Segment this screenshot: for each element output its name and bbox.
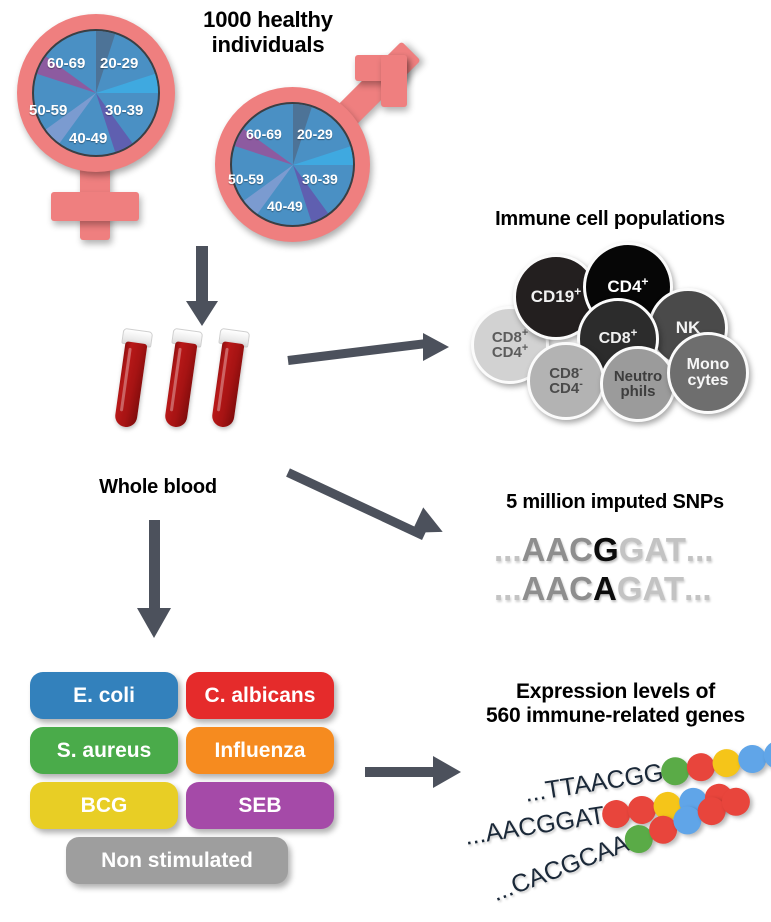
blood-tubes: [105, 330, 285, 450]
snp-sequence-row-2: ...AACAGAT...: [494, 570, 712, 608]
arrow-cohort-to-blood: [186, 246, 218, 326]
snp-ellipsis-left: ...: [494, 531, 522, 569]
whole-blood-label: Whole blood: [78, 476, 238, 498]
cohort-title-line2: individuals: [178, 33, 358, 58]
arrow-blood-to-stimuli: [136, 520, 176, 645]
stimulus-label: SEB: [238, 794, 281, 818]
snp-variant-allele: G: [593, 531, 619, 569]
tube-blood: [114, 341, 148, 428]
stimulus-seb[interactable]: SEB: [186, 782, 334, 829]
immune-cell-label: CD8+CD4+: [492, 330, 528, 361]
gene-expression-title: Expression levels of 560 immune-related …: [460, 680, 771, 727]
snp-flank-left: AAC: [522, 570, 594, 608]
female-age-label-30-39: 30-39: [105, 102, 143, 119]
male-arrow-barb-vertical: [381, 55, 407, 107]
female-age-label-40-49: 40-49: [69, 130, 107, 147]
stimulus-label: S. aureus: [57, 739, 152, 763]
stimuli-panel: E. coli C. albicans S. aureus Influenza …: [28, 672, 338, 902]
immune-cell-label: CD8-CD4-: [549, 366, 583, 397]
blood-tube-2: [163, 331, 201, 433]
arrow-blood-to-snps: [288, 460, 458, 560]
stimulus-bcg[interactable]: BCG: [30, 782, 178, 829]
stimulus-label: BCG: [81, 794, 128, 818]
immune-cell-label: Monocytes: [687, 357, 730, 390]
male-age-label-20-29: 20-29: [297, 126, 333, 142]
gene-title-line1: Expression levels of: [460, 680, 771, 704]
arrow-stimuli-to-genes: [365, 756, 465, 790]
snp-sequence-row-1: ...AACGGAT...: [494, 531, 713, 569]
snp-flank-right: GAT: [617, 570, 684, 608]
snp-title: 5 million imputed SNPs: [470, 491, 760, 513]
snp-flank-left: AAC: [522, 531, 594, 569]
female-symbol: 20-29 30-39 40-49 50-59 60-69: [8, 10, 198, 250]
snp-ellipsis-left: ...: [494, 570, 522, 608]
stimulus-label: Non stimulated: [101, 849, 253, 873]
male-age-label-50-59: 50-59: [228, 171, 264, 187]
cohort-title: 1000 healthy individuals: [178, 8, 358, 57]
snp-ellipsis-right: ...: [686, 531, 714, 569]
stimulus-influenza[interactable]: Influenza: [186, 727, 334, 774]
immune-cell-label: CD8+: [599, 331, 638, 347]
female-age-label-20-29: 20-29: [100, 55, 138, 72]
immune-cell-label: CD19+: [531, 288, 582, 305]
immune-cell-neutrophils: Neutrophils: [600, 346, 676, 422]
arrow-blood-to-immune-cells: [288, 330, 456, 380]
immune-cell-label: Neutrophils: [614, 369, 662, 400]
male-age-label-60-69: 60-69: [246, 126, 282, 142]
gene-bead: [736, 743, 768, 775]
stimulus-label: Influenza: [214, 739, 305, 763]
gene-bead: [710, 747, 742, 779]
immune-cell-cluster: CD8+CD4+ CD19+ CD4+ NK CD8+ CD8-CD4- Neu…: [455, 240, 771, 425]
snp-variant-allele: A: [593, 570, 617, 608]
stimulus-label: E. coli: [73, 684, 135, 708]
snp-ellipsis-right: ...: [684, 570, 712, 608]
tube-blood: [211, 341, 245, 428]
blood-tube-1: [113, 331, 151, 433]
female-age-label-60-69: 60-69: [47, 55, 85, 72]
stimulus-label: C. albicans: [205, 684, 316, 708]
cohort-title-line1: 1000 healthy: [178, 8, 358, 33]
immune-cell-cd8minus-cd4minus: CD8-CD4-: [527, 342, 605, 420]
stimulus-s-aureus[interactable]: S. aureus: [30, 727, 178, 774]
male-age-label-30-39: 30-39: [302, 171, 338, 187]
gene-title-line2: 560 immune-related genes: [460, 704, 771, 728]
female-stem-horizontal: [51, 192, 139, 221]
immune-cell-title: Immune cell populations: [455, 208, 765, 230]
snp-flank-right: GAT: [619, 531, 686, 569]
immune-cell-monocytes: Monocytes: [667, 332, 749, 414]
gene-strand-cluster: ...TTAACGG ...AACGGAT ...CACGCAA: [455, 745, 771, 920]
female-age-label-50-59: 50-59: [29, 102, 67, 119]
male-age-label-40-49: 40-49: [267, 198, 303, 214]
stimulus-e-coli[interactable]: E. coli: [30, 672, 178, 719]
stimulus-non-stimulated[interactable]: Non stimulated: [66, 837, 288, 884]
gene-bead: [685, 751, 717, 783]
stimulus-c-albicans[interactable]: C. albicans: [186, 672, 334, 719]
blood-tube-3: [210, 331, 248, 433]
tube-blood: [164, 341, 198, 428]
male-symbol: 20-29 30-39 40-49 50-59 60-69: [210, 55, 410, 250]
immune-cell-label: CD4+: [607, 278, 648, 295]
